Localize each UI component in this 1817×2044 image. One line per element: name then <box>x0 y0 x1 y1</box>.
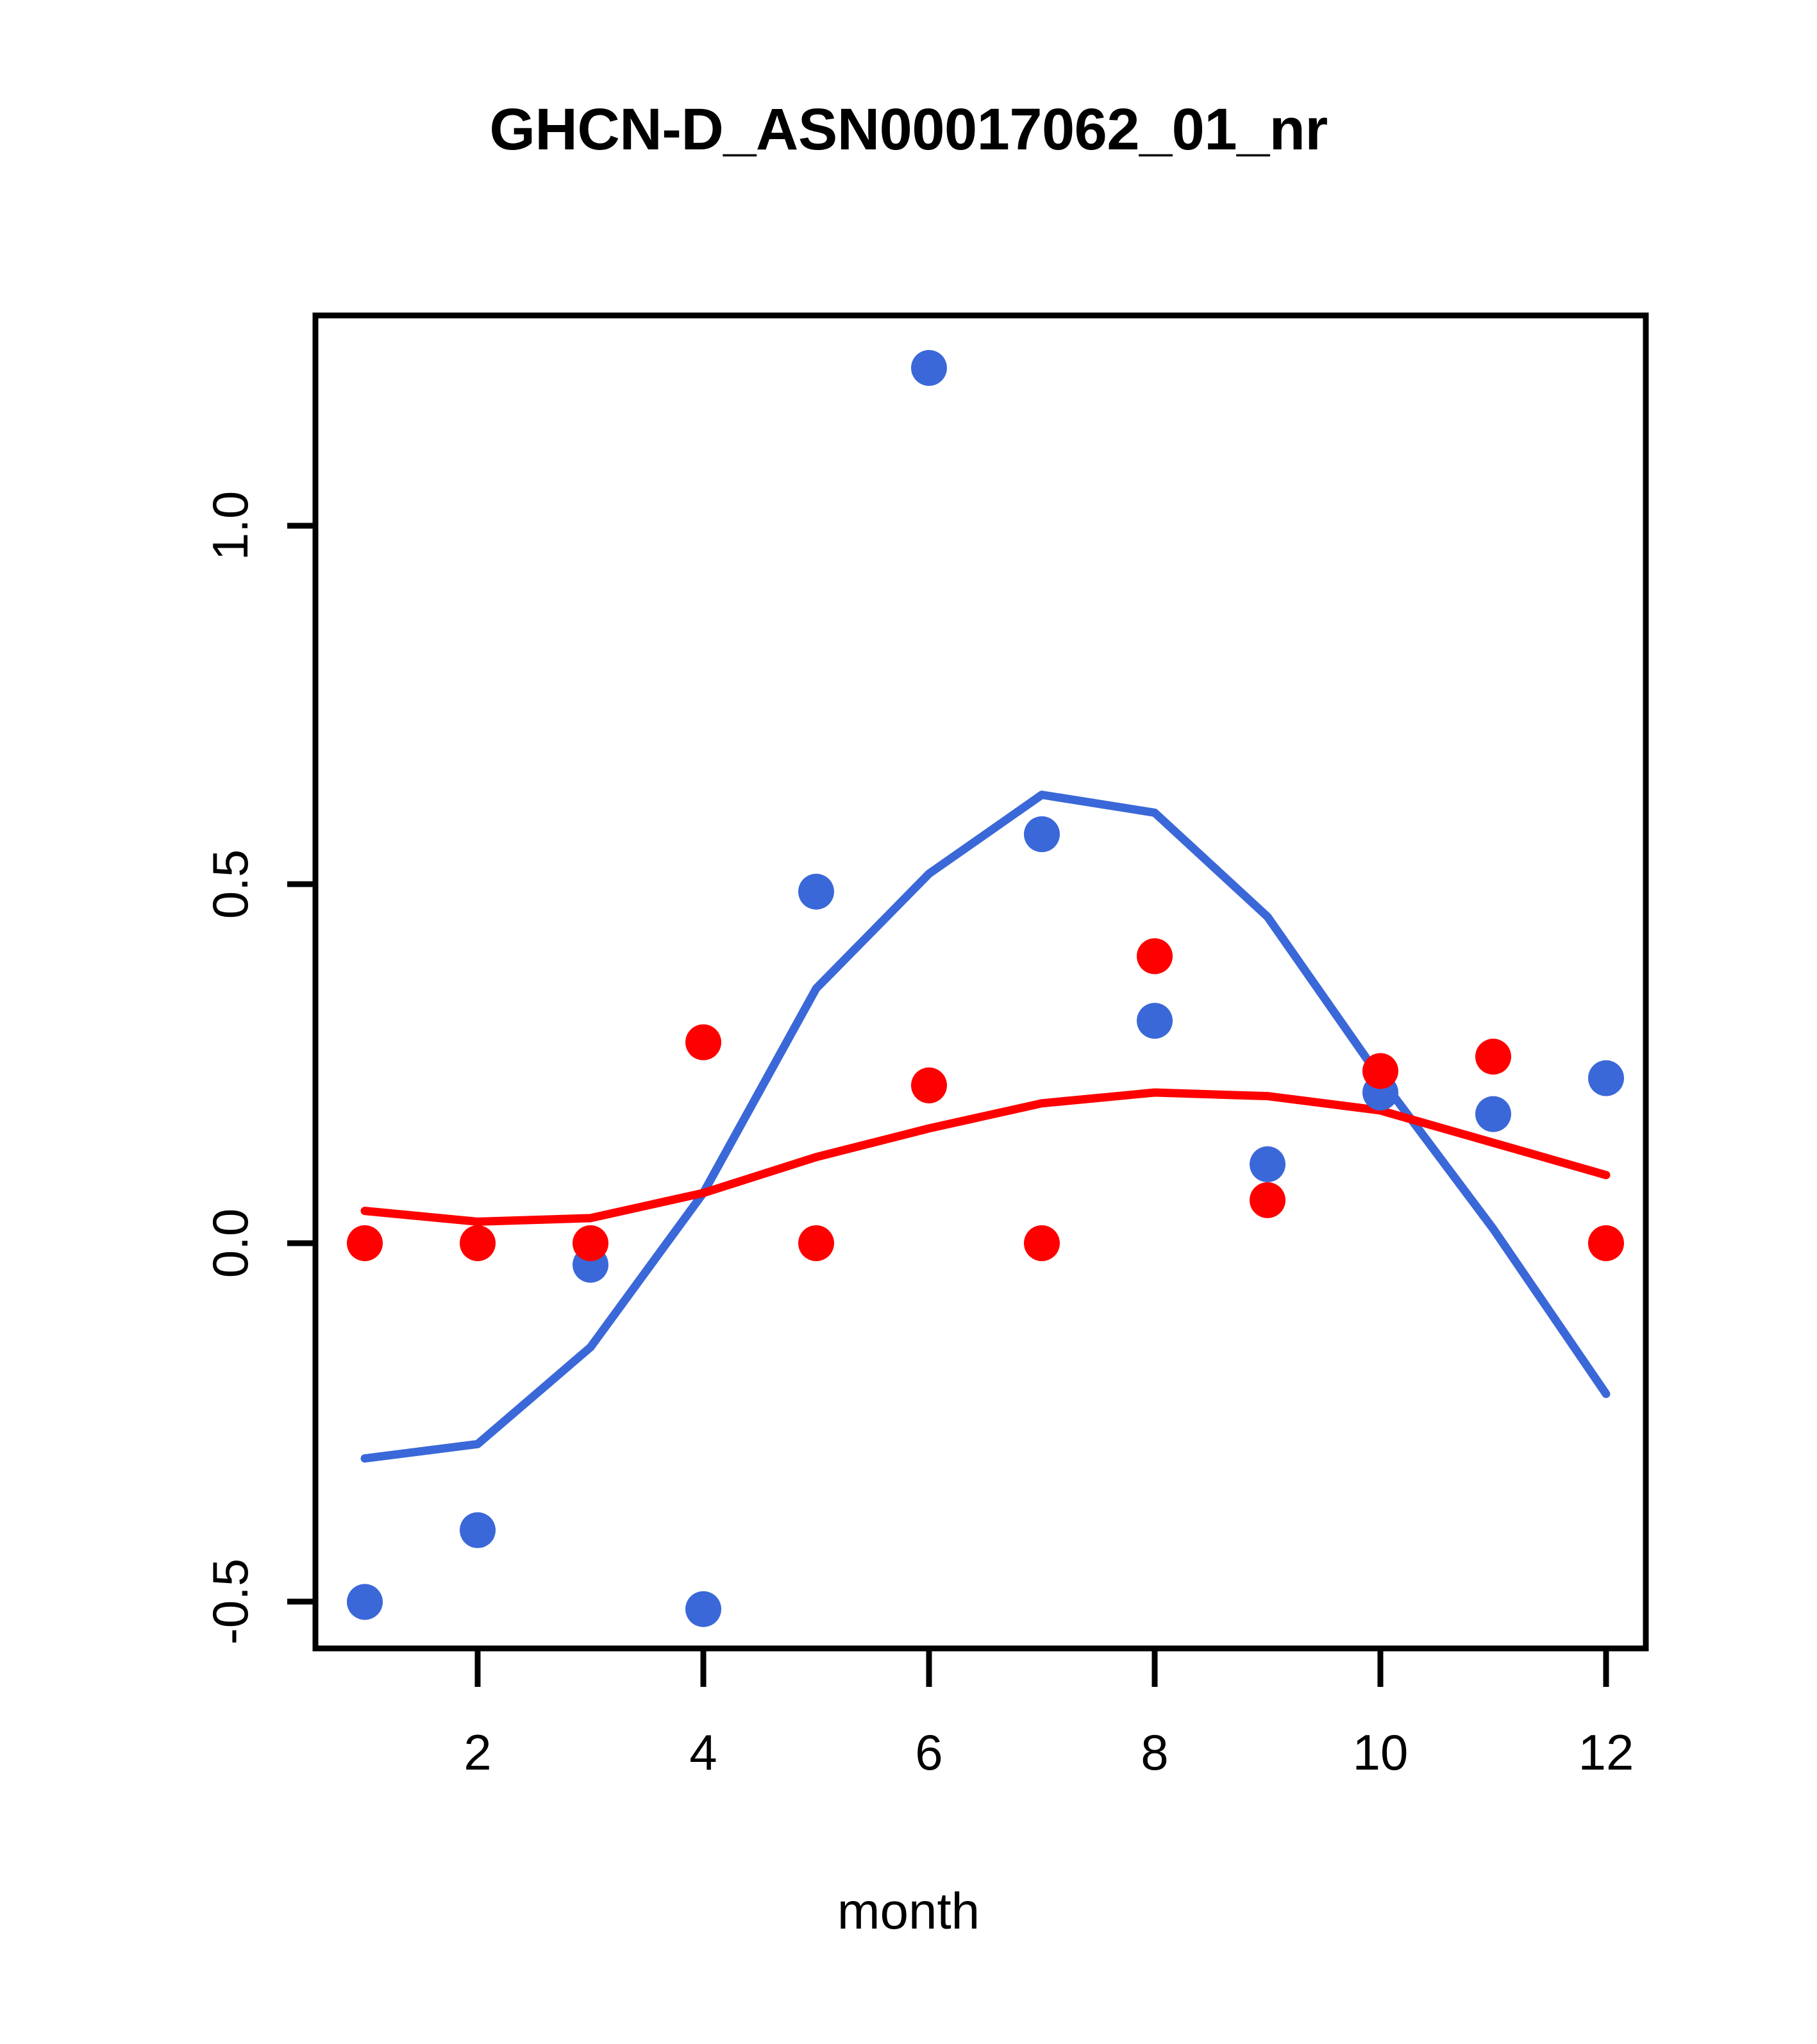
y-tick-label-0-0: 0.0 <box>202 1209 258 1278</box>
data-point <box>460 1512 496 1548</box>
y-tick-label-0-5: 0.5 <box>202 850 258 919</box>
x-axis-ticks <box>478 1648 1606 1687</box>
data-point <box>1475 1096 1511 1132</box>
data-point <box>911 350 947 386</box>
x-axis-label: month <box>0 1882 1817 1941</box>
data-point <box>347 1225 383 1261</box>
series-line-red-line <box>365 1093 1606 1221</box>
plot-frame <box>315 315 1646 1648</box>
x-tick-label-4: 4 <box>689 1724 717 1780</box>
data-point <box>1588 1225 1624 1261</box>
data-point <box>573 1225 608 1261</box>
data-point <box>911 1068 947 1103</box>
series-lines-layer <box>365 795 1606 1459</box>
data-point <box>1024 1225 1060 1261</box>
x-tick-label-10: 10 <box>1353 1724 1409 1780</box>
x-tick-label-12: 12 <box>1578 1724 1634 1780</box>
plot-area: 1.0 0.5 0.0 -0.5 2 4 6 8 10 12 <box>0 0 1817 2044</box>
data-point <box>798 874 834 910</box>
data-point <box>1137 938 1173 974</box>
y-tick-label-1-0: 1.0 <box>202 491 258 560</box>
x-tick-label-2: 2 <box>464 1724 491 1780</box>
x-tick-label-6: 6 <box>915 1724 942 1780</box>
data-point <box>685 1591 721 1627</box>
data-point <box>1250 1182 1285 1218</box>
x-tick-label-8: 8 <box>1141 1724 1168 1780</box>
data-point <box>347 1584 383 1620</box>
chart-figure: GHCN-D_ASN00017062_01_nr 1.0 0.5 0.0 -0.… <box>0 0 1817 2044</box>
data-point <box>1362 1053 1398 1089</box>
data-point <box>1137 1003 1173 1039</box>
data-point <box>1024 816 1060 852</box>
data-point <box>798 1225 834 1261</box>
data-point <box>460 1225 496 1261</box>
data-point <box>1588 1060 1624 1096</box>
series-points-layer <box>347 350 1624 1627</box>
y-axis-ticks <box>287 526 315 1602</box>
data-point <box>685 1025 721 1060</box>
data-point <box>1475 1039 1511 1075</box>
series-line-blue-line <box>365 795 1606 1459</box>
data-point <box>1250 1146 1285 1182</box>
y-tick-label-neg-0-5: -0.5 <box>202 1559 258 1645</box>
